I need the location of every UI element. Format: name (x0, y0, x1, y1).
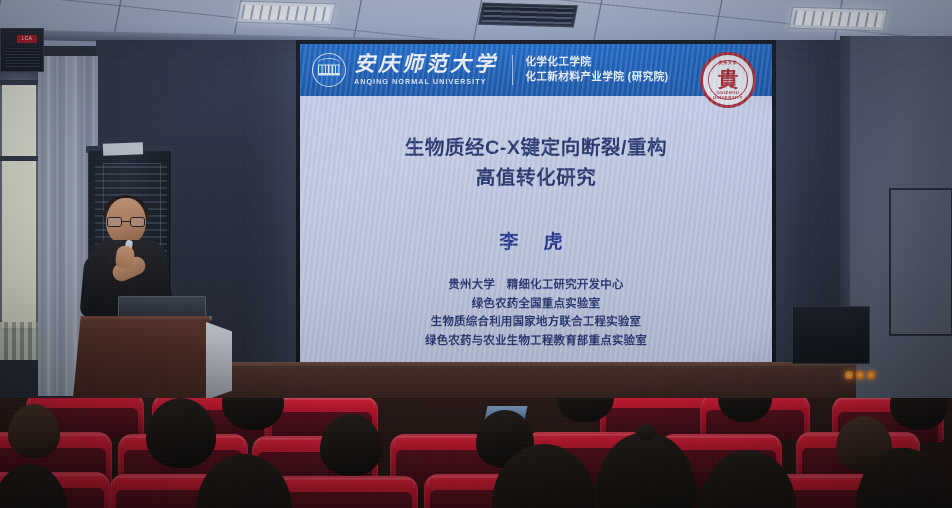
left-window (0, 60, 40, 360)
window-mullion (0, 156, 40, 161)
lecture-hall-photo: LCA 安庆师范大学 ANQING NORMAL UNIVERSITY 化学化工… (0, 0, 952, 508)
presenter-laptop-screen (118, 296, 206, 318)
rack-paper (103, 142, 143, 155)
window-mullion (0, 80, 40, 85)
lectern (72, 316, 218, 408)
audience-area (0, 398, 952, 508)
seal-inner-ring: 贵州大学 貴 GUIZHOU UNIVERSITY (708, 60, 748, 100)
speaker-grill (5, 47, 39, 67)
speaker-brand-label: LCA (17, 35, 37, 43)
lectern-side-panel (206, 322, 232, 400)
affiliation-line: 生物质综合利用国家地方联合工程实验室 (300, 313, 772, 331)
ceiling-light-panel (788, 7, 888, 32)
audience-head (320, 414, 382, 476)
wall-framed-panel (889, 188, 952, 336)
presenter-left-arm (79, 255, 110, 319)
affiliation-line: 绿色农药与农业生物工程教育部重点实验室 (300, 332, 772, 350)
seal-top-text: 贵州大学 (709, 60, 747, 66)
projection-screen: 安庆师范大学 ANQING NORMAL UNIVERSITY 化学化工学院 化… (300, 44, 772, 384)
glasses-icon (107, 217, 145, 227)
stage-indicator-lights (845, 370, 879, 379)
slide-title-line-1: 生物质经C-X键定向断裂/重构 (300, 134, 772, 164)
college-line-1: 化学化工学院 (525, 55, 668, 70)
window-glass (2, 82, 36, 332)
slide-title-line-2: 高值转化研究 (300, 164, 772, 194)
audience-head (8, 404, 60, 458)
affiliation-line: 绿色农药全国重点实验室 (300, 295, 772, 313)
college-name-block: 化学化工学院 化工新材料产业学院 (研究院) (525, 55, 668, 85)
anqing-normal-university-emblem-icon (312, 53, 346, 87)
indicator-light (867, 371, 875, 379)
ceiling-light-panel (236, 1, 336, 26)
slide-affiliations: 贵州大学 精细化工研究开发中心 绿色农药全国重点实验室 生物质综合利用国家地方联… (300, 276, 772, 350)
stage-monitor (792, 306, 870, 364)
slide-title: 生物质经C-X键定向断裂/重构 高值转化研究 (300, 134, 772, 193)
university-name-block: 安庆师范大学 ANQING NORMAL UNIVERSITY (354, 54, 498, 85)
ceiling-air-vent (478, 3, 578, 28)
wall-speaker: LCA (0, 28, 44, 72)
university-name-cn: 安庆师范大学 (354, 54, 498, 75)
indicator-light (856, 371, 864, 379)
band-divider (512, 55, 513, 85)
affiliation-line: 贵州大学 精细化工研究开发中心 (300, 276, 772, 294)
university-name-en: ANQING NORMAL UNIVERSITY (354, 78, 498, 85)
window-railing (0, 322, 40, 360)
college-line-2: 化工新材料产业学院 (研究院) (525, 70, 668, 85)
indicator-light (845, 371, 853, 379)
seal-character: 貴 (718, 70, 739, 91)
slide-author: 李 虎 (300, 227, 772, 254)
slide-body: 生物质经C-X键定向断裂/重构 高值转化研究 李 虎 贵州大学 精细化工研究开发… (300, 96, 772, 384)
